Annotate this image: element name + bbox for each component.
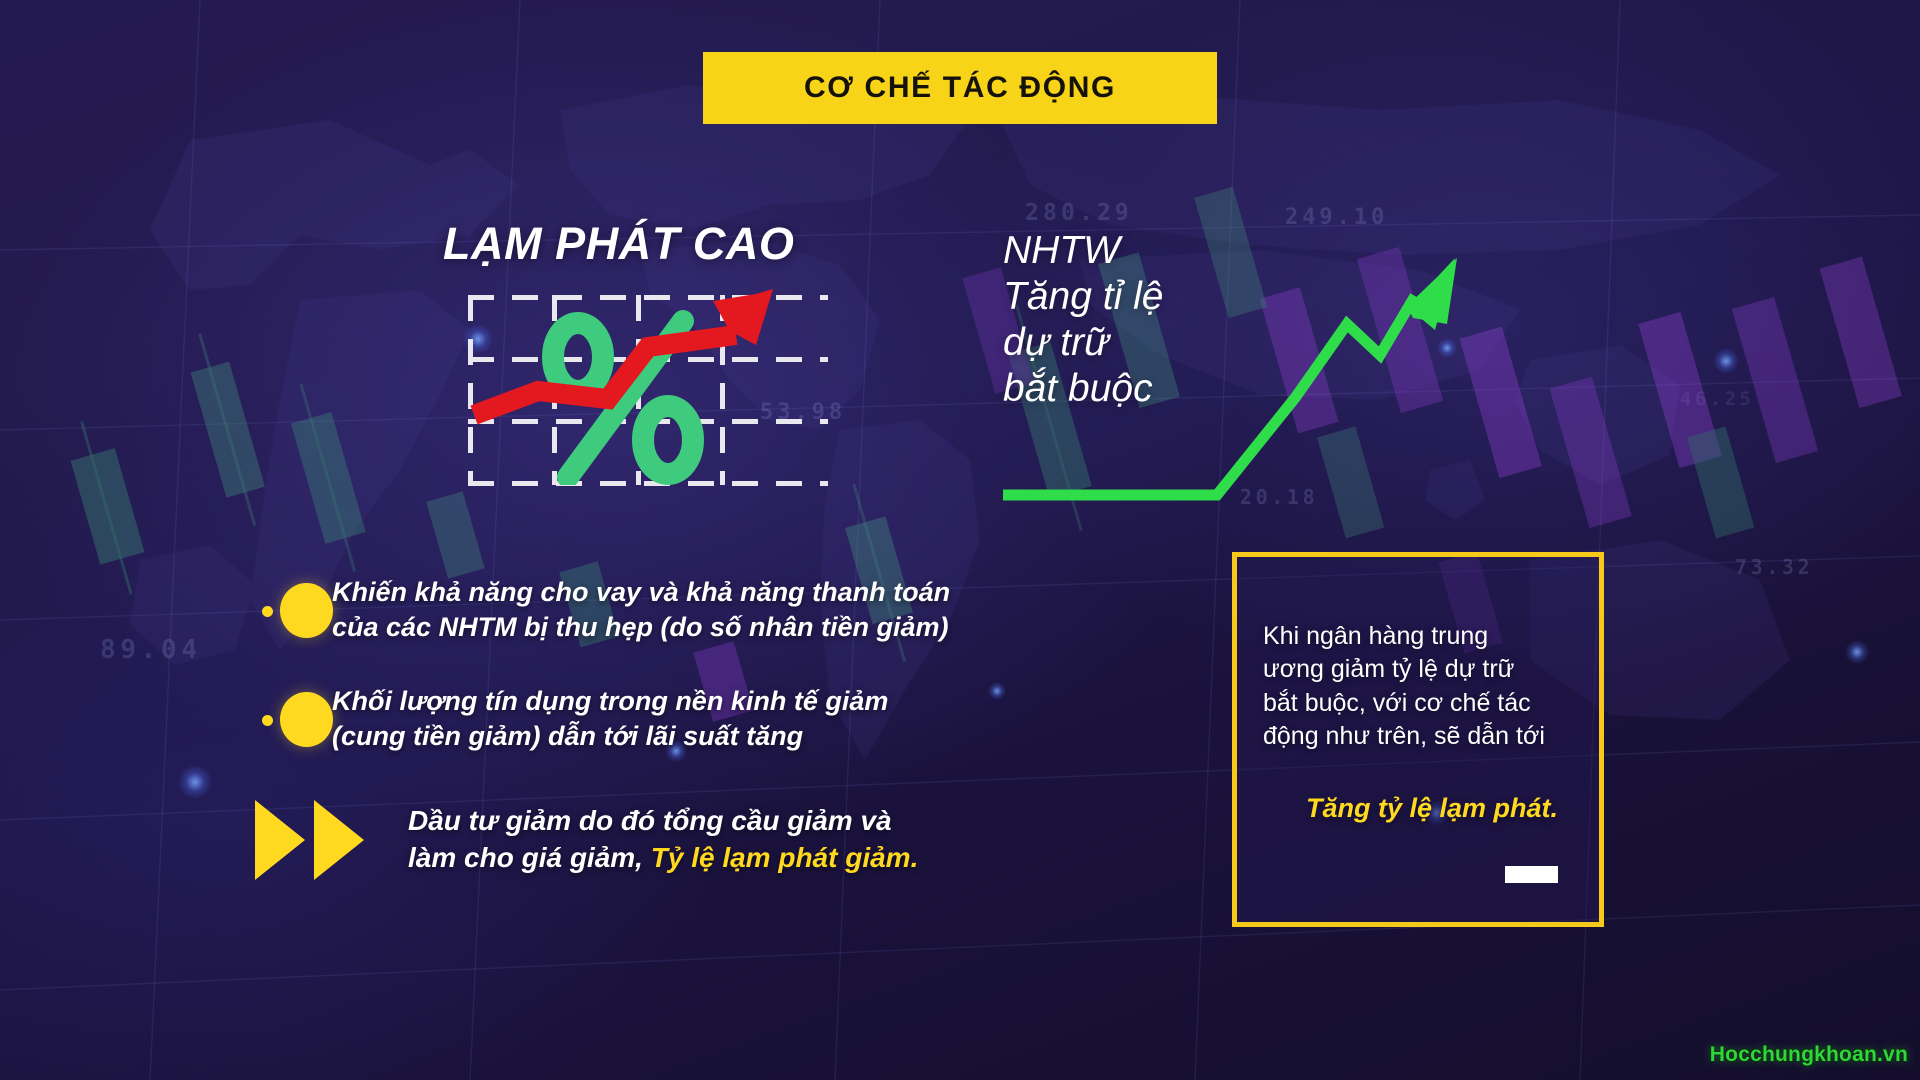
bullet-item: Khối lượng tín dụng trong nền kinh tế gi… <box>262 684 888 754</box>
white-bar-marker <box>1505 866 1558 883</box>
bullet-marker <box>262 684 332 694</box>
background-number: 46.25 <box>1680 388 1754 410</box>
arrow-item-text: Dầu tư giảm do đó tổng cầu giảm và làm c… <box>408 803 918 877</box>
bullet-line: của các NHTM bị thu hẹp (do số nhân tiền… <box>332 610 950 645</box>
infographic-canvas: 280.29 249.10 53.98 20.18 89.04 73.32 46… <box>0 0 1920 1080</box>
arrow-line-2-plain: làm cho giá giảm, <box>408 842 651 873</box>
world-map-graphic <box>0 0 1920 1080</box>
glow-dot <box>988 682 1006 700</box>
arrow-line-2: làm cho giá giảm, Tỷ lệ lạm phát giảm. <box>408 840 918 877</box>
watermark-logo: Hocchungkhoan.vn <box>1710 1043 1908 1067</box>
bullet-text: Khiến khả năng cho vay và khả năng thanh… <box>332 575 950 645</box>
green-trend-arrow-icon <box>995 258 1465 508</box>
bullet-line: Khiến khả năng cho vay và khả năng thanh… <box>332 575 950 610</box>
background-number: 73.32 <box>1735 555 1813 579</box>
page-title: CƠ CHẾ TÁC ĐỘNG <box>804 71 1116 105</box>
bullet-line: (cung tiền giảm) dẫn tới lãi suất tăng <box>332 719 888 754</box>
triangle-right-icon <box>255 800 305 880</box>
candlestick-background <box>0 0 1920 1080</box>
red-trend-arrow-icon <box>468 287 828 477</box>
bullet-small-dot-icon <box>262 606 273 617</box>
conclusion-text: Khi ngân hàng trung ương giảm tỷ lệ dự t… <box>1263 620 1593 753</box>
conclusion-line: bắt buộc, với cơ chế tác <box>1263 687 1593 720</box>
bullet-small-dot-icon <box>262 715 273 726</box>
bullet-text: Khối lượng tín dụng trong nền kinh tế gi… <box>332 684 888 754</box>
background-number: 280.29 <box>1025 200 1133 226</box>
bullet-large-dot-icon <box>280 583 333 638</box>
conclusion-line: Khi ngân hàng trung <box>1263 620 1593 653</box>
glow-dot <box>1713 348 1739 374</box>
glow-dot <box>178 765 212 799</box>
bullet-marker <box>262 575 332 585</box>
conclusion-highlight: Tăng tỷ lệ lạm phát. <box>1267 793 1597 824</box>
heading-lam-phat-cao: LẠM PHÁT CAO <box>443 218 794 270</box>
conclusion-line: động như trên, sẽ dẫn tới <box>1263 720 1593 753</box>
percent-chart-graphic <box>468 295 828 485</box>
background-number: 249.10 <box>1285 205 1388 230</box>
arrow-line-1: Dầu tư giảm do đó tổng cầu giảm và <box>408 803 918 840</box>
background-number: 89.04 <box>100 635 202 665</box>
arrow-line-2-highlight: Tỷ lệ lạm phát giảm. <box>651 842 919 873</box>
background-layer: 280.29 249.10 53.98 20.18 89.04 73.32 46… <box>0 0 1920 1080</box>
bullet-line: Khối lượng tín dụng trong nền kinh tế gi… <box>332 684 888 719</box>
background-gridlines <box>0 0 1920 1080</box>
glow-dot <box>1845 640 1869 664</box>
title-banner: CƠ CHẾ TÁC ĐỘNG <box>703 52 1217 124</box>
conclusion-line: ương giảm tỷ lệ dự trữ <box>1263 653 1593 686</box>
conclusion-box: Khi ngân hàng trung ương giảm tỷ lệ dự t… <box>1232 552 1604 927</box>
bullet-large-dot-icon <box>280 692 333 747</box>
triangle-right-icon <box>314 800 364 880</box>
bullet-item: Khiến khả năng cho vay và khả năng thanh… <box>262 575 950 645</box>
arrow-conclusion-item: Dầu tư giảm do đó tổng cầu giảm và làm c… <box>255 800 918 880</box>
